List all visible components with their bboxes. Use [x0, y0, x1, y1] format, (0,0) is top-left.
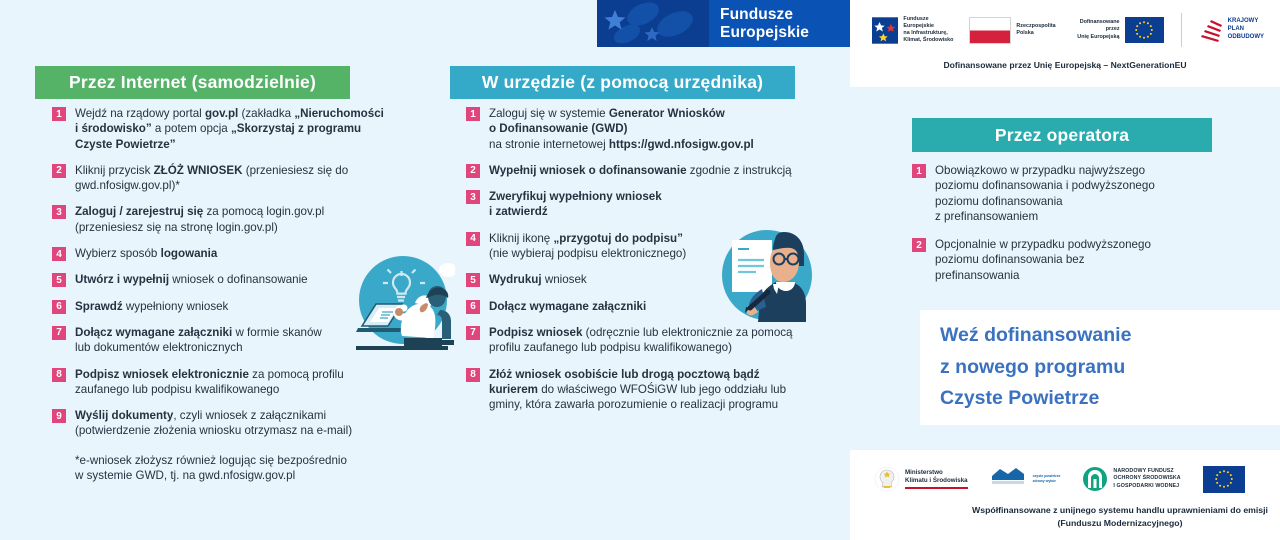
step-text: Wydrukuj wniosek	[489, 272, 587, 287]
poland-logo-text: Rzeczpospolita Polska	[1016, 23, 1055, 37]
promo-line-1: Weź dofinansowanie	[940, 320, 1280, 352]
eu-flag-icon	[1125, 17, 1164, 43]
step-number-badge: 2	[466, 164, 480, 178]
step-number-badge: 2	[52, 164, 66, 178]
nfosigw-logo-text: NARODOWY FUNDUSZ OCHRONY ŚRODOWISKA I GO…	[1113, 468, 1180, 490]
step-text: Opcjonalnie w przypadku podwyższonegopoz…	[935, 237, 1151, 283]
krajowy-plan-odbudowy-logo: KRAJOWY PLAN ODBUDOWY	[1199, 18, 1264, 42]
step-item: 1Obowiązkowo w przypadku najwyższegopozi…	[912, 163, 1212, 224]
ministerstwo-klimatu-logo: Ministerstwo Klimatu i Środowiska	[874, 466, 968, 492]
eu-flag-logo	[1203, 466, 1245, 493]
polish-eagle-icon	[874, 466, 900, 492]
promo-line-3: Czyste Powietrze	[940, 383, 1280, 415]
column-header-operator: Przez operatora	[912, 118, 1212, 152]
step-item: 1Zaloguj się w systemie Generator Wniosk…	[466, 106, 846, 152]
house-icon	[990, 466, 1028, 492]
step-text: Złóż wniosek osobiście lub drogą pocztow…	[489, 367, 786, 413]
ministerstwo-logo-text: Ministerstwo Klimatu i Środowiska	[905, 469, 968, 485]
step-item: 2Wypełnij wniosek o dofinansowanie zgodn…	[466, 163, 846, 178]
step-item: 2Kliknij przycisk ZŁÓŻ WNIOSEK (przenies…	[52, 163, 402, 194]
step-text: Kliknij ikonę „przygotuj do podpisu”(nie…	[489, 231, 686, 262]
nfosigw-tree-icon	[1082, 466, 1108, 492]
step-text: Zweryfikuj wypełniony wnioseki zatwierdź	[489, 189, 662, 220]
step-number-badge: 3	[52, 205, 66, 219]
poland-flag-logo: Rzeczpospolita Polska	[969, 17, 1055, 44]
step-item: 3Zaloguj / zarejestruj się za pomocą log…	[52, 204, 402, 235]
step-number-badge: 8	[52, 368, 66, 382]
step-number-badge: 1	[52, 107, 66, 121]
fundusze-europejskie-logo-text: Fundusze Europejskie na Infrastrukturę, …	[903, 16, 959, 44]
step-text: Sprawdź wypełniony wniosek	[75, 299, 228, 314]
infographic-canvas: Fundusze Europejskie Fundusze Europejski…	[0, 0, 1280, 540]
person-signing-document-illustration	[710, 222, 820, 332]
column-header-internet: Przez Internet (samodzielnie)	[35, 66, 350, 99]
step-text: Zaloguj / zarejestruj się za pomocą logi…	[75, 204, 324, 235]
step-number-badge: 2	[912, 238, 926, 252]
step-number-badge: 7	[52, 326, 66, 340]
step-text: Kliknij przycisk ZŁÓŻ WNIOSEK (przeniesi…	[75, 163, 348, 194]
eu-cofinancing-logo: Dofinansowane przez Unię Europejską	[1066, 17, 1164, 43]
step-item: 3Zweryfikuj wypełniony wnioseki zatwierd…	[466, 189, 846, 220]
column-header-office: W urzędzie (z pomocą urzędnika)	[450, 66, 795, 99]
promo-box: Weź dofinansowanie z nowego programu Czy…	[920, 310, 1280, 425]
logo-divider	[1181, 13, 1182, 47]
ministerstwo-red-rule	[905, 487, 968, 489]
step-number-badge: 6	[52, 300, 66, 314]
step-number-badge: 1	[466, 107, 480, 121]
step-text: Wyślij dokumenty, czyli wniosek z załącz…	[75, 408, 352, 439]
step-item: 8Złóż wniosek osobiście lub drogą poczto…	[466, 367, 846, 413]
czyste-powietrze-logo-text: czyste powietrze zdrowy wybór	[1033, 474, 1061, 483]
step-number-badge: 9	[52, 409, 66, 423]
step-number-badge: 6	[466, 300, 480, 314]
step-number-badge: 7	[466, 326, 480, 340]
step-text: Utwórz i wypełnij wniosek o dofinansowan…	[75, 272, 308, 287]
step-number-badge: 5	[52, 273, 66, 287]
bottom-logo-row: Ministerstwo Klimatu i Środowiska czyste…	[874, 462, 1264, 496]
step-text: Dołącz wymagane załączniki w formie skan…	[75, 325, 322, 356]
step-text: Dołącz wymagane załączniki	[489, 299, 646, 314]
kpo-logo-text: KRAJOWY PLAN ODBUDOWY	[1228, 18, 1264, 41]
step-text: Wejdź na rządowy portal gov.pl (zakładka…	[75, 106, 384, 152]
kpo-mark-icon	[1199, 18, 1223, 42]
eu-cofinancing-text: Dofinansowane przez Unię Europejską	[1066, 19, 1120, 40]
poland-flag-icon	[969, 17, 1011, 44]
eu-stars-logo	[597, 0, 709, 47]
footnote-text: *e-wniosek złożysz również logując się b…	[75, 453, 402, 484]
step-text: Wypełnij wniosek o dofinansowanie zgodni…	[489, 163, 792, 178]
step-number-badge: 4	[52, 247, 66, 261]
step-number-badge: 3	[466, 190, 480, 204]
nfosigw-logo: NARODOWY FUNDUSZ OCHRONY ŚRODOWISKA I GO…	[1082, 466, 1180, 492]
step-number-badge: 5	[466, 273, 480, 287]
step-number-badge: 8	[466, 368, 480, 382]
step-number-badge: 1	[912, 164, 926, 178]
step-text: Obowiązkowo w przypadku najwyższegopozio…	[935, 163, 1155, 224]
step-item: 2Opcjonalnie w przypadku podwyższonegopo…	[912, 237, 1212, 283]
top-logo-panel: Fundusze Europejskie na Infrastrukturę, …	[850, 0, 1280, 87]
step-item: 8Podpisz wniosek elektronicznie za pomoc…	[52, 367, 402, 398]
steps-list-operator: 1Obowiązkowo w przypadku najwyższegopozi…	[912, 163, 1212, 296]
fe-stars-mini-icon	[872, 17, 898, 44]
fundusze-europejskie-band: Fundusze Europejskie	[597, 0, 850, 47]
step-text: Podpisz wniosek elektronicznie za pomocą…	[75, 367, 344, 398]
step-text: Wybierz sposób logowania	[75, 246, 217, 261]
step-item: 9Wyślij dokumenty, czyli wniosek z załąc…	[52, 408, 402, 439]
czyste-powietrze-logo: czyste powietrze zdrowy wybór	[990, 466, 1061, 492]
step-number-badge: 4	[466, 232, 480, 246]
top-funding-caption: Dofinansowane przez Unię Europejską – Ne…	[850, 60, 1280, 70]
fe-band-title: Fundusze Europejskie	[720, 0, 850, 47]
top-logo-row: Fundusze Europejskie na Infrastrukturę, …	[872, 10, 1264, 50]
fundusze-europejskie-logo: Fundusze Europejskie na Infrastrukturę, …	[872, 16, 959, 44]
person-at-laptop-idea-illustration	[340, 248, 455, 363]
promo-line-2: z nowego programu	[940, 352, 1280, 384]
step-item: 1Wejdź na rządowy portal gov.pl (zakładk…	[52, 106, 402, 152]
step-text: Zaloguj się w systemie Generator Wnioskó…	[489, 106, 754, 152]
bottom-funding-caption: Współfinansowane z unijnego systemu hand…	[970, 504, 1270, 529]
bottom-logo-panel: Ministerstwo Klimatu i Środowiska czyste…	[850, 450, 1280, 540]
